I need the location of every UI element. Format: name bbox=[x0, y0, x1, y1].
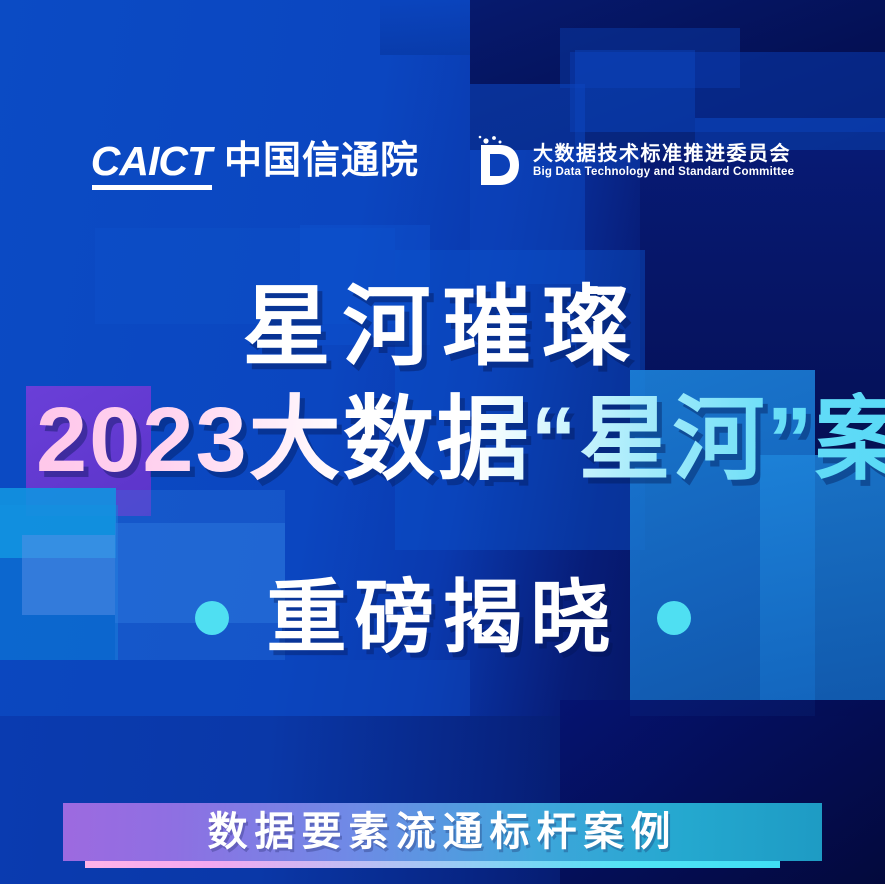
headline-secondary-wrap: 2023大数据“星河”案例 bbox=[0, 392, 885, 489]
caict-wordmark-icon: CAICT bbox=[91, 141, 211, 182]
cyan-dot-right-icon bbox=[657, 601, 691, 635]
headline-primary: 星河璀璨 bbox=[0, 282, 885, 372]
big-data-committee-chinese-name: 大数据技术标准推进委员会 bbox=[533, 144, 794, 164]
reveal-text: 重磅揭晓 bbox=[267, 578, 619, 658]
caict-acronym: CAICT bbox=[91, 141, 211, 182]
big-data-committee-text: 大数据技术标准推进委员会 Big Data Technology and Sta… bbox=[533, 144, 794, 179]
caict-chinese-name: 中国信通院 bbox=[224, 142, 419, 180]
bottom-banner: 数据要素流通标杆案例 bbox=[63, 803, 822, 861]
cyan-dot-left-icon bbox=[195, 601, 229, 635]
caict-logo: CAICT 中国信通院 bbox=[91, 141, 419, 182]
poster-canvas: CAICT 中国信通院 大数据技术标准推进委员会 Big Data Techno… bbox=[0, 0, 885, 884]
big-data-committee-logo: 大数据技术标准推进委员会 Big Data Technology and Sta… bbox=[475, 135, 794, 187]
big-data-committee-english-name: Big Data Technology and Standard Committ… bbox=[533, 167, 794, 179]
bottom-banner-accent-line bbox=[85, 861, 780, 868]
bottom-banner-text: 数据要素流通标杆案例 bbox=[208, 812, 678, 852]
stylized-d-icon bbox=[475, 135, 521, 187]
reveal-row: 重磅揭晓 bbox=[0, 565, 885, 671]
headline-block: 星河璀璨 bbox=[0, 282, 885, 372]
logo-row: CAICT 中国信通院 大数据技术标准推进委员会 Big Data Techno… bbox=[0, 128, 885, 194]
headline-secondary: 2023大数据“星河”案例 bbox=[36, 392, 885, 489]
caict-underline-icon bbox=[92, 185, 212, 190]
